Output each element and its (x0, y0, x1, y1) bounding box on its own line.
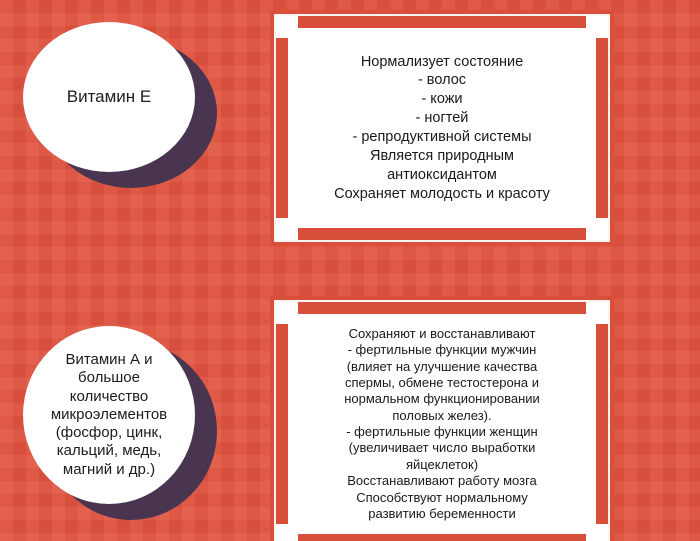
box-text-vitamin-a: Сохраняют и восстанавливают - фертильные… (332, 322, 552, 527)
frame-card: Сохраняют и восстанавливают - фертильные… (288, 314, 596, 534)
frame-band: Сохраняют и восстанавливают - фертильные… (276, 302, 608, 541)
corner-notch-bottom-left (276, 218, 298, 240)
text-box-vitamin-e: Нормализует состояние - волос - кожи - н… (270, 10, 614, 246)
corner-notch-bottom-right (586, 524, 608, 541)
frame-band: Нормализует состояние - волос - кожи - н… (276, 16, 608, 240)
corner-notch-top-right (586, 302, 608, 324)
circle-body: Витамин Е (23, 22, 195, 172)
box-text-vitamin-e: Нормализует состояние - волос - кожи - н… (322, 49, 562, 208)
circle-vitamin-e: Витамин Е (23, 22, 195, 172)
text-box-vitamin-a: Сохраняют и восстанавливают - фертильные… (270, 296, 614, 541)
corner-notch-top-left (276, 302, 298, 324)
circle-label-vitamin-a: Витамин А и большое количество микроэлем… (41, 351, 177, 479)
corner-notch-top-right (586, 16, 608, 38)
circle-vitamin-a: Витамин А и большое количество микроэлем… (23, 326, 195, 504)
infographic-canvas: Витамин Е Нормализует состояние - волос … (0, 0, 700, 541)
corner-notch-top-left (276, 16, 298, 38)
circle-body: Витамин А и большое количество микроэлем… (23, 326, 195, 504)
frame-card: Нормализует состояние - волос - кожи - н… (288, 28, 596, 228)
circle-label-vitamin-e: Витамин Е (57, 87, 162, 107)
corner-notch-bottom-right (586, 218, 608, 240)
corner-notch-bottom-left (276, 524, 298, 541)
frame-outline: Сохраняют и восстанавливают - фертильные… (274, 300, 610, 541)
frame-outline: Нормализует состояние - волос - кожи - н… (274, 14, 610, 242)
